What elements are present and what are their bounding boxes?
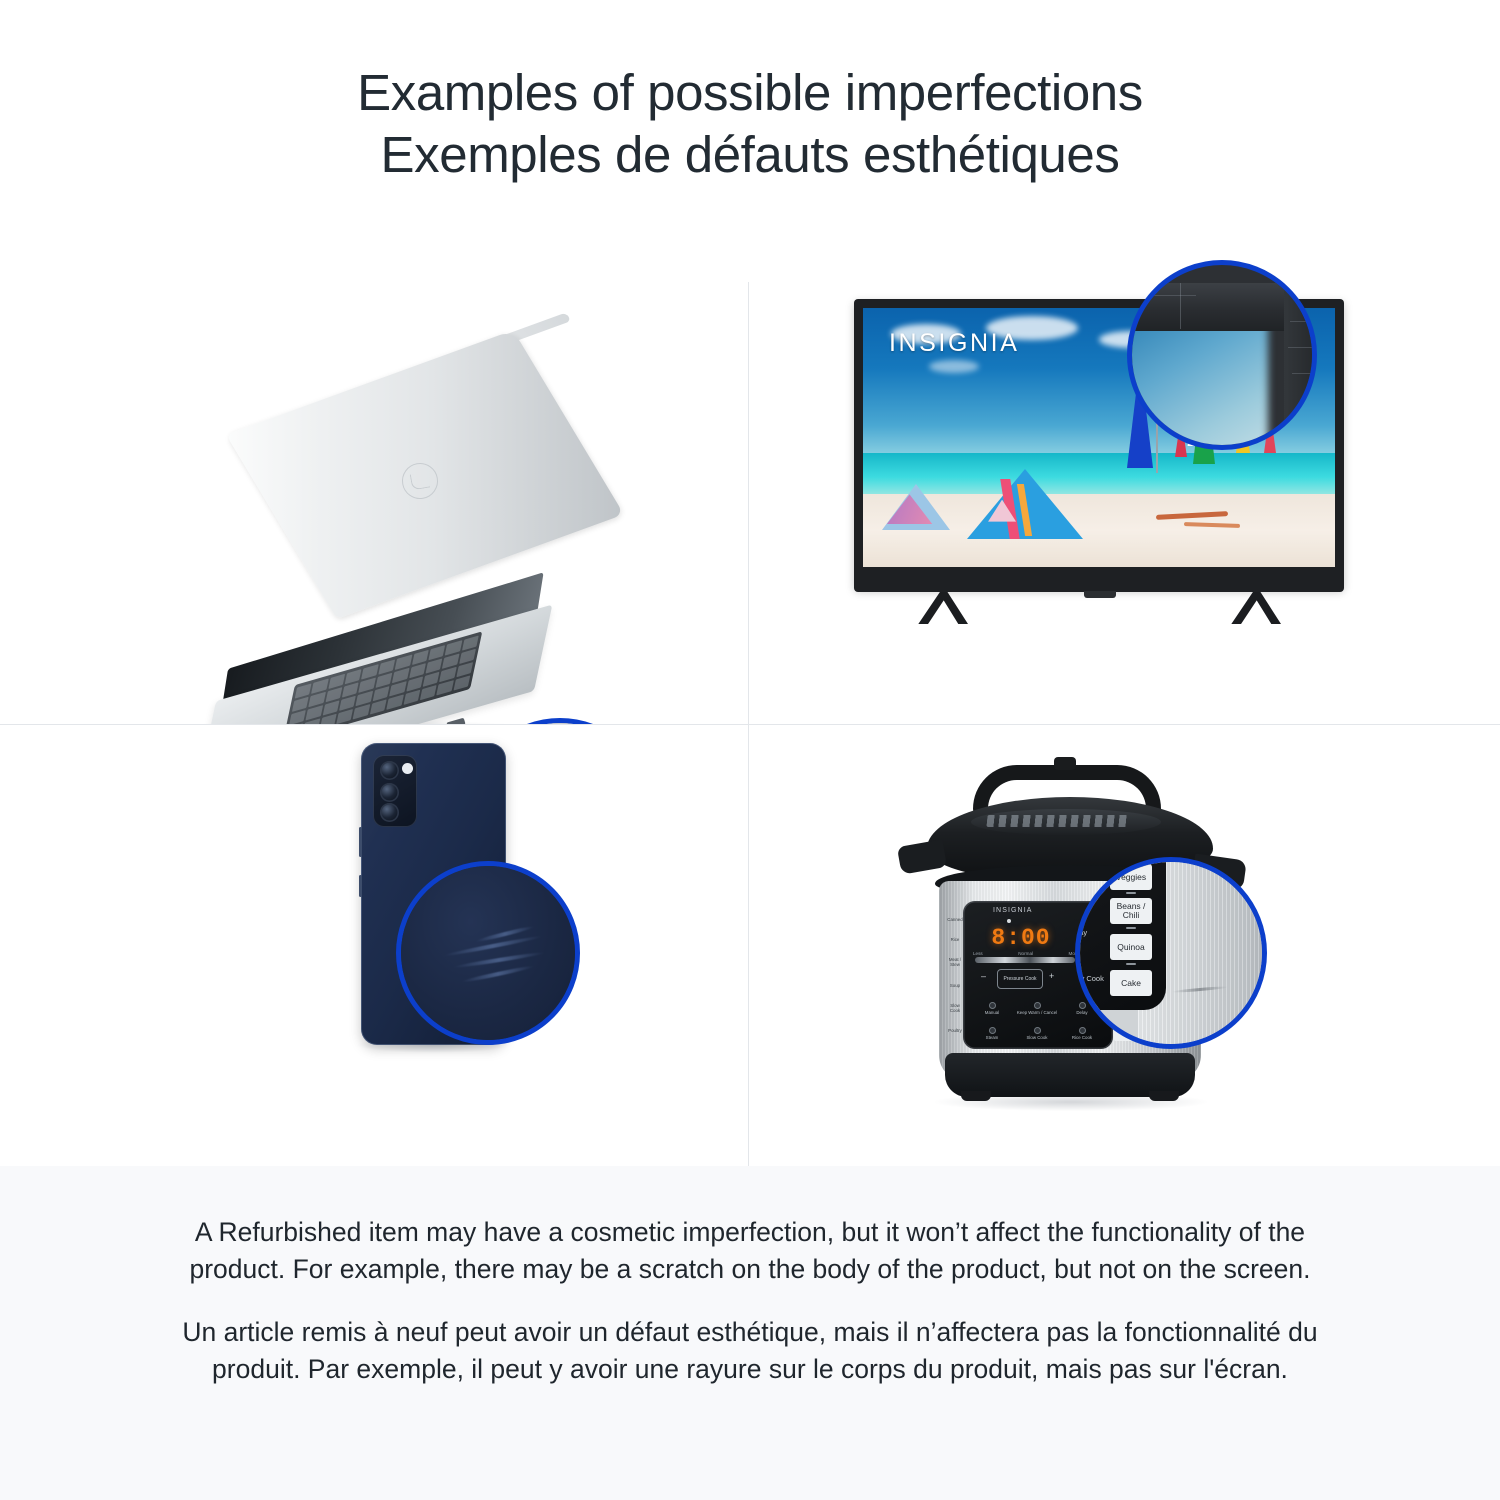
cooker-left-button-column: Canned Rice Meat / Stew Soup Slow Cook P… bbox=[945, 909, 965, 1041]
cooker-left-button[interactable]: Poultry bbox=[948, 1028, 962, 1033]
disclaimer-text-french: Un article remis à neuf peut avoir un dé… bbox=[170, 1314, 1330, 1388]
cooker-lid-markings bbox=[986, 815, 1127, 827]
tv-scuff-mark bbox=[1288, 347, 1317, 348]
magnifier-phone-surface bbox=[401, 866, 575, 1040]
magnifier-tv-blurred-screen bbox=[1127, 321, 1268, 450]
phone-camera-lens bbox=[380, 783, 399, 802]
cooker-indicator-light bbox=[1007, 919, 1011, 923]
disclaimer-panel: A Refurbished item may have a cosmetic i… bbox=[0, 1166, 1500, 1500]
cooker-slider-labels: Less Normal More bbox=[973, 951, 1079, 956]
cooker-side-handle-left bbox=[897, 839, 947, 875]
example-cell-laptop bbox=[0, 252, 748, 724]
tv-image-cloud bbox=[929, 360, 979, 373]
magnifier-cooker-side-button[interactable]: Delay bbox=[1075, 928, 1087, 937]
phone-volume-button bbox=[359, 827, 362, 857]
cooker-left-button[interactable]: Slow Cook bbox=[945, 1003, 965, 1013]
phone-camera-lens bbox=[380, 761, 399, 780]
magnifier-cooker-tick bbox=[1126, 927, 1136, 929]
example-cell-tv: INSIGNIA bbox=[749, 252, 1500, 724]
cooker-function-button[interactable]: Manual bbox=[971, 993, 1013, 1016]
phone-camera-lens bbox=[380, 803, 399, 822]
examples-grid: INSIGNIA bbox=[0, 252, 1500, 1166]
cooker-slider-label-less: Less bbox=[973, 951, 983, 956]
tv-leg-left bbox=[914, 592, 968, 624]
magnifier-laptop-surface bbox=[471, 723, 649, 724]
cooker-pressure-cook-button[interactable]: Pressure Cook bbox=[997, 969, 1043, 989]
tv-scuff-mark bbox=[1292, 373, 1317, 374]
magnifier-cooker-tick bbox=[1126, 892, 1136, 894]
example-cell-pressure-cooker: Canned Rice Meat / Stew Soup Slow Cook P… bbox=[749, 725, 1500, 1166]
magnifier-cooker-button[interactable]: Cake bbox=[1110, 970, 1152, 996]
tv-brand-logo: INSIGNIA bbox=[889, 329, 1020, 358]
magnifier-cooker-button[interactable]: Quinoa bbox=[1110, 934, 1152, 960]
tv-leg-right bbox=[1227, 592, 1281, 624]
cooker-foot bbox=[1149, 1091, 1179, 1101]
cooker-function-button[interactable]: Slow Cook bbox=[1016, 1019, 1058, 1042]
cooker-slider-label-normal: Normal bbox=[1018, 951, 1033, 956]
cooker-time-display: 8:00 bbox=[987, 925, 1055, 951]
phone-camera-module bbox=[373, 755, 417, 827]
cooker-function-button[interactable]: Keep Warm / Cancel bbox=[1016, 993, 1058, 1016]
phone-power-button bbox=[359, 875, 362, 897]
refurbished-imperfections-infographic: Examples of possible imperfections Exemp… bbox=[0, 0, 1500, 1500]
page-header: Examples of possible imperfections Exemp… bbox=[0, 0, 1500, 250]
cooker-left-button[interactable]: Canned bbox=[947, 917, 962, 922]
cooker-foot bbox=[961, 1091, 991, 1101]
cooker-brand-logo: INSIGNIA bbox=[993, 907, 1033, 914]
tv-ir-receiver bbox=[1084, 591, 1116, 598]
magnifier-phone-scratches bbox=[396, 861, 580, 1045]
tv-illustration: INSIGNIA bbox=[749, 252, 1500, 724]
laptop-usb-port bbox=[446, 718, 465, 724]
pressure-cooker-illustration: Canned Rice Meat / Stew Soup Slow Cook P… bbox=[749, 725, 1500, 1166]
example-cell-phone bbox=[0, 725, 748, 1166]
laptop-illustration bbox=[0, 252, 748, 724]
page-title-french: Exemples de défauts esthétiques bbox=[381, 124, 1120, 186]
phone-illustration bbox=[0, 725, 748, 1166]
cooker-pressure-slider[interactable] bbox=[975, 957, 1075, 963]
cooker-steam-valve-icon bbox=[1054, 757, 1076, 770]
magnifier-cooker-button[interactable]: Veggies bbox=[1110, 864, 1152, 890]
magnifier-cooker-scratch: Delay Slow Cook Veggies Beans / Chili Qu… bbox=[1075, 857, 1267, 1049]
phone-flash-icon bbox=[402, 763, 413, 774]
cooker-minus-button[interactable]: – bbox=[981, 971, 986, 981]
magnifier-tv-bezel-seam bbox=[1180, 283, 1181, 329]
magnifier-cooker-side-button[interactable]: Slow Cook bbox=[1075, 974, 1104, 983]
magnifier-tv-scuff bbox=[1127, 260, 1317, 450]
magnifier-cooker-tick bbox=[1126, 963, 1136, 965]
cooker-left-button[interactable]: Soup bbox=[950, 983, 960, 988]
cooker-function-button[interactable]: Steam bbox=[971, 1019, 1013, 1042]
tv-scuff-mark bbox=[1127, 295, 1196, 296]
page-title-english: Examples of possible imperfections bbox=[357, 62, 1143, 124]
magnifier-cooker-button[interactable]: Beans / Chili bbox=[1110, 898, 1152, 924]
disclaimer-text-english: A Refurbished item may have a cosmetic i… bbox=[170, 1214, 1330, 1288]
cooker-left-button[interactable]: Meat / Stew bbox=[945, 957, 965, 967]
cooker-function-button[interactable]: Rice Cook bbox=[1061, 1019, 1103, 1042]
cooker-left-button[interactable]: Rice bbox=[951, 937, 960, 942]
cooker-plus-button[interactable]: + bbox=[1049, 971, 1054, 981]
